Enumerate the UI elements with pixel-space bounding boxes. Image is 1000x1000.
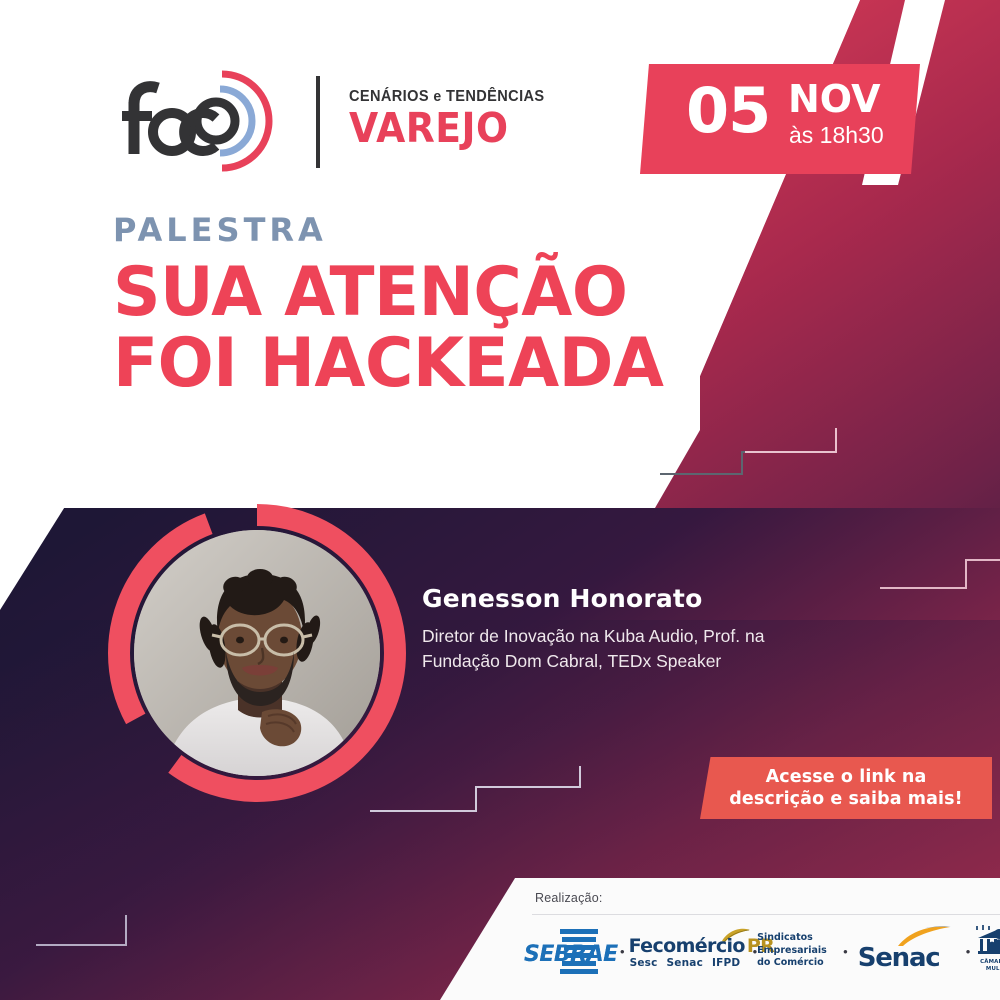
cta-text: Acesse o link na descrição e saiba mais! xyxy=(729,766,962,811)
varejo-lockup: CENÁRIOS e TENDÊNCIAS VAREJO xyxy=(349,88,539,149)
tagline-conn: e xyxy=(433,88,441,105)
bg-panel-top-diagonal xyxy=(0,430,700,508)
speaker-photo-frame xyxy=(112,508,402,798)
headline-block: PALESTRA SUA ATENÇÃO FOI HACKEADA xyxy=(113,214,733,399)
camara-caption: CÂMARA DA MULHER xyxy=(970,959,1000,973)
fecomercio-subbrands: SescSenacIFPD xyxy=(630,957,750,969)
logo-divider xyxy=(316,76,320,168)
sindicatos-line-3: do Comércio xyxy=(757,957,827,970)
footer-divider xyxy=(532,914,1000,915)
fecomercio-wordmark: FecomércioPR xyxy=(629,935,775,957)
poster-canvas: CENÁRIOS e TENDÊNCIAS VAREJO 05 NOV às 1… xyxy=(0,0,1000,1000)
footer-panel: Realização: SEBRA xyxy=(440,878,1000,1000)
sponsor-logo-fecomercio: FecomércioPR SescSenacIFPD xyxy=(625,927,753,975)
tagline-varejo: VAREJO xyxy=(349,108,524,149)
headline-line-1: SUA ATENÇÃO xyxy=(113,258,714,329)
sponsor-logo-sindicatos: Sindicatos Empresariais do Comércio xyxy=(757,929,843,973)
dome-building-icon xyxy=(970,925,1000,959)
sponsor-logo-senac: Senac xyxy=(848,925,966,977)
cta-line-1: Acesse o link na xyxy=(729,766,962,788)
eyebrow-label: PALESTRA xyxy=(113,214,733,246)
date-day: 05 xyxy=(686,80,770,142)
speaker-role: Diretor de Inovação na Kuba Audio, Prof.… xyxy=(422,624,822,674)
sponsor-logo-sebrae: SEBRAE xyxy=(518,925,620,977)
tagline-cenarios: CENÁRIOS xyxy=(349,88,429,105)
sponsor-logo-camara: CÂMARA DA MULHER xyxy=(970,925,1000,977)
speaker-name: Genesson Honorato xyxy=(422,586,822,611)
tagline-tendencias: TENDÊNCIAS xyxy=(446,88,544,105)
sponsor-logo-row: SEBRAE • FecomércioPR SescSenacIFPD xyxy=(518,920,1000,982)
headline-line-2: FOI HACKEADA xyxy=(113,329,714,400)
sebrae-wordmark: SEBRAE xyxy=(524,942,618,967)
senac-wordmark: Senac xyxy=(858,943,940,973)
cta-banner[interactable]: Acesse o link na descrição e saiba mais! xyxy=(700,757,992,819)
fecomercio-main: Fecomércio xyxy=(629,935,745,957)
footer-label: Realização: xyxy=(535,891,603,905)
date-badge: 05 NOV às 18h30 xyxy=(640,64,920,174)
date-month: NOV xyxy=(788,80,881,118)
concentric-rings-icon xyxy=(104,62,304,180)
speaker-portrait xyxy=(134,530,380,776)
date-time: às 18h30 xyxy=(789,124,884,147)
sub-ifpd: IFPD xyxy=(712,957,740,969)
cta-line-2: descrição e saiba mais! xyxy=(729,788,962,810)
camara-line-2: MULHER xyxy=(970,966,1000,973)
speaker-role-line-2: Fundação Dom Cabral, TEDx Speaker xyxy=(422,649,822,674)
sub-senac: Senac xyxy=(667,957,703,969)
sub-sesc: Sesc xyxy=(630,957,658,969)
speaker-info: Genesson Honorato Diretor de Inovação na… xyxy=(422,586,822,674)
sindicatos-line-1: Sindicatos xyxy=(757,932,827,945)
speaker-role-line-1: Diretor de Inovação na Kuba Audio, Prof.… xyxy=(422,624,822,649)
sindicatos-line-2: Empresariais xyxy=(757,945,827,958)
portrait-illustration xyxy=(134,530,380,776)
camara-line-1: CÂMARA DA xyxy=(970,959,1000,966)
brand-logo: CENÁRIOS e TENDÊNCIAS VAREJO xyxy=(104,62,524,180)
